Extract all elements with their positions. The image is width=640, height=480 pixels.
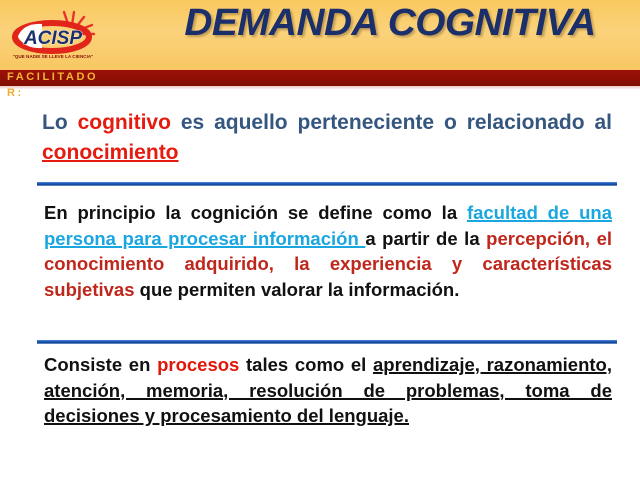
processes-keyword-procesos: procesos	[157, 354, 239, 375]
definition-paragraph: En principio la cognición se define como…	[44, 200, 612, 302]
definition-seg-5: que permiten valorar la información.	[135, 279, 460, 300]
intro-keyword-conocimiento: conocimiento	[42, 141, 179, 164]
processes-seg-3: tales como el	[239, 354, 373, 375]
processes-paragraph: Consiste en procesos tales como el apren…	[44, 352, 612, 429]
intro-paragraph: Lo cognitivo es aquello perteneciente o …	[42, 108, 612, 168]
intro-keyword-cognitivo: cognitivo	[78, 111, 171, 134]
page-title: DEMANDA COGNITIVA	[145, 2, 635, 45]
section-divider-1	[37, 182, 617, 186]
facilitator-label-line1: FACILITADO	[7, 71, 98, 83]
intro-seg-3: es aquello perteneciente o relacionado a…	[171, 111, 612, 134]
intro-seg-1: Lo	[42, 111, 78, 134]
acisp-tagline: "QUE NADIE SE LLEVE LA CIENCIA"	[13, 54, 94, 59]
section-divider-2	[37, 340, 617, 344]
acisp-logo: ACISP "QUE NADIE SE LLEVE LA CIENCIA"	[8, 8, 104, 64]
processes-seg-1: Consiste en	[44, 354, 157, 375]
definition-seg-1: En principio la cognición se define como…	[44, 202, 467, 223]
band-hairline-divider	[0, 86, 640, 89]
facilitator-label-line2: R:	[7, 87, 24, 99]
definition-seg-3: a partir de la	[365, 228, 486, 249]
acisp-wordmark: ACISP	[23, 28, 82, 49]
slide-header: ACISP "QUE NADIE SE LLEVE LA CIENCIA" DE…	[0, 0, 640, 70]
